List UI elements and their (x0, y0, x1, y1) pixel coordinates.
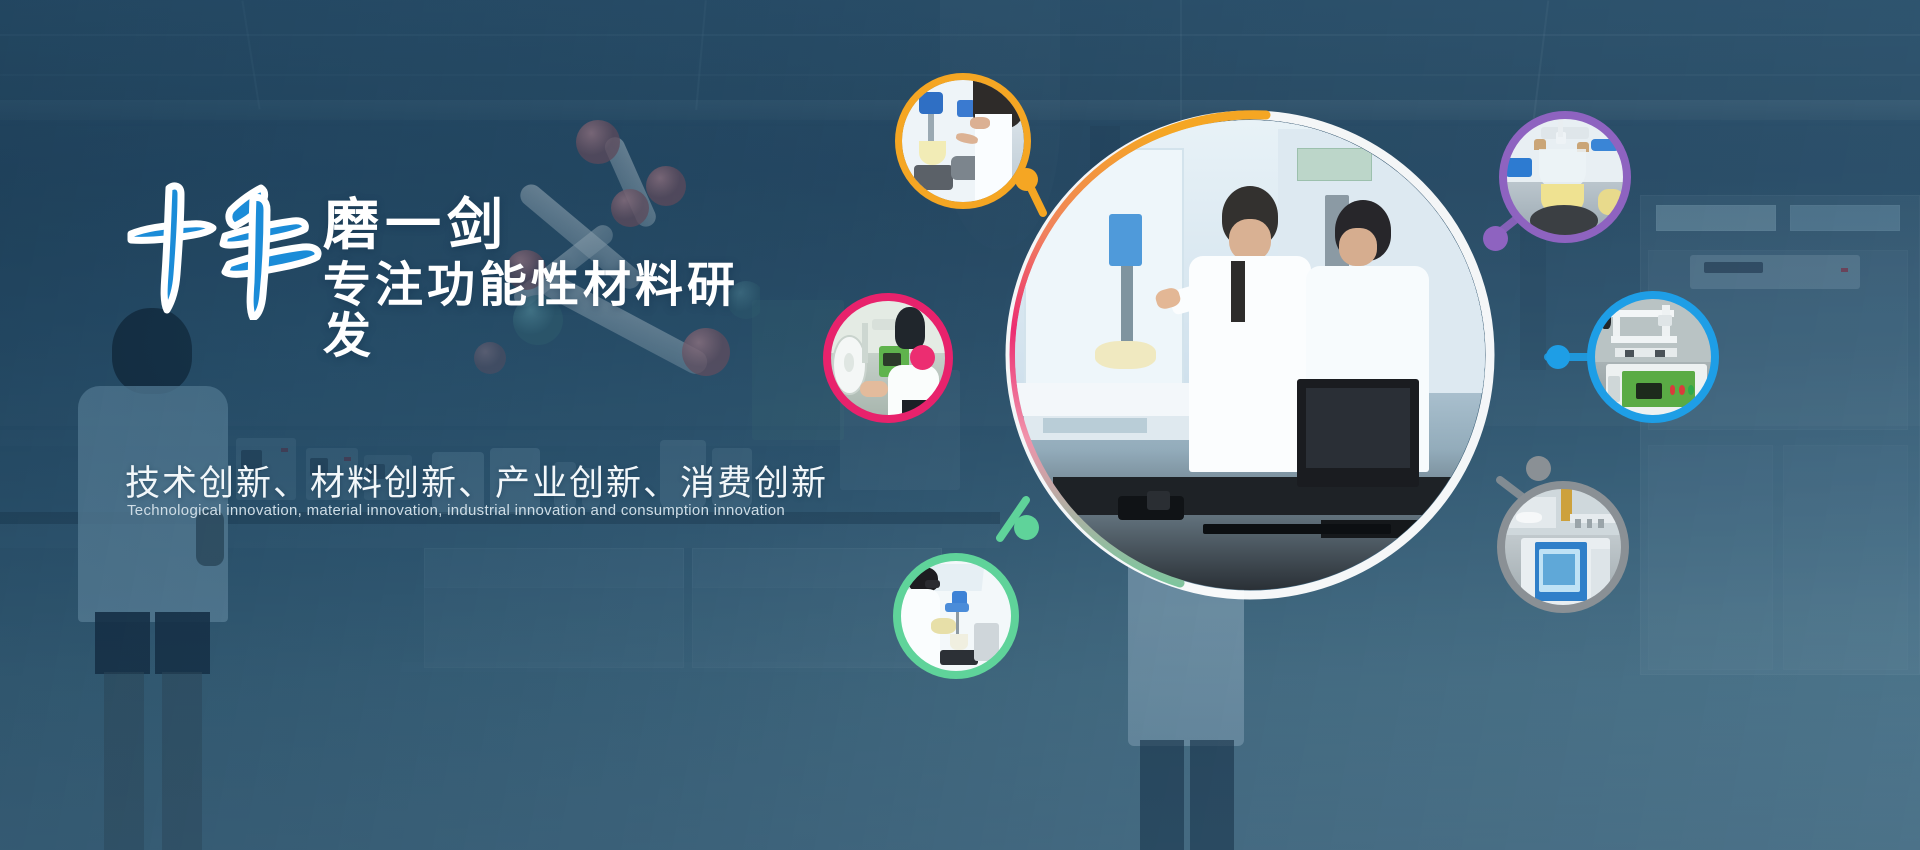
node-reactor-ring (895, 73, 1031, 209)
node-mixing-joint (1014, 515, 1039, 540)
subheading-english: Technological innovation, material innov… (127, 502, 785, 519)
brush-calligraphy-shinian (125, 170, 325, 320)
node-reactor-joint (1015, 168, 1038, 191)
circle-photo-composition (800, 60, 1920, 780)
node-chamber-joint (1526, 456, 1551, 481)
brush-headline-row: 磨一剑 专注功能性材料研发 (125, 180, 745, 320)
node-flask-ring (1499, 111, 1631, 243)
node-tester-ring (1587, 291, 1719, 423)
headline-line-1: 磨一剑 (323, 196, 745, 253)
hero-banner: 磨一剑 专注功能性材料研发 技术创新、材料创新、产业创新、消费创新 Techno… (0, 0, 1920, 850)
main-ring-overlay (1007, 112, 1493, 598)
node-chamber-ring (1497, 481, 1629, 613)
node-flask-joint (1483, 226, 1508, 251)
node-mixing-ring (893, 553, 1019, 679)
node-tester-joint (1546, 345, 1570, 369)
node-coater-joint (910, 345, 935, 370)
headline-line-2: 专注功能性材料研发 (323, 261, 745, 362)
hero-text-block: 磨一剑 专注功能性材料研发 技术创新、材料创新、产业创新、消费创新 Techno… (125, 180, 745, 320)
subheading-chinese: 技术创新、材料创新、产业创新、消费创新 (125, 455, 828, 506)
